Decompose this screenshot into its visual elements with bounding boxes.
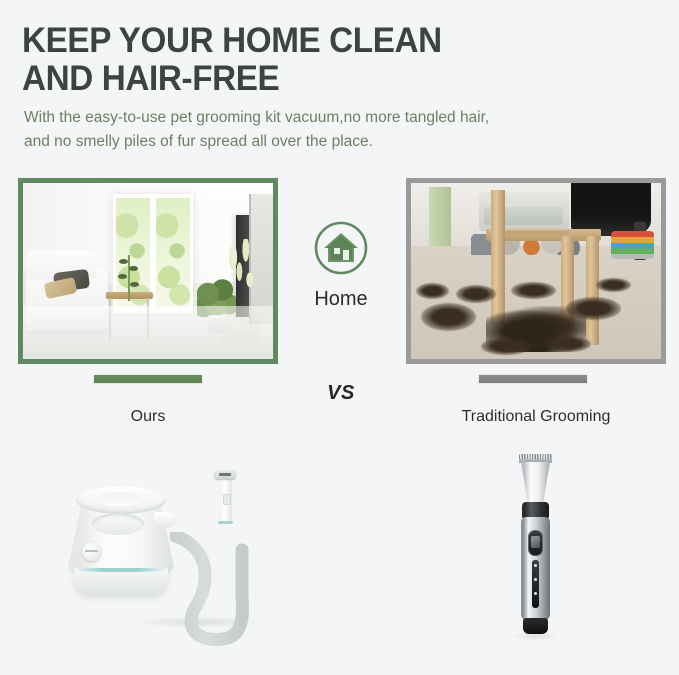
traditional-image-frame xyxy=(406,178,666,364)
comparison-panel-traditional: Traditional Grooming xyxy=(406,178,666,364)
comparison-center-column: Home VS xyxy=(278,178,404,438)
vacuum-hose xyxy=(166,532,250,650)
traditional-caption: Traditional Grooming xyxy=(406,408,666,426)
home-icon xyxy=(313,220,369,276)
vacuum-brush-attachment xyxy=(214,470,236,528)
stem-plant xyxy=(113,255,143,301)
vacuum-dial xyxy=(82,542,101,561)
ours-indicator-bar xyxy=(93,374,203,384)
comparison-panel-ours: Ours xyxy=(18,178,278,364)
vs-label: VS xyxy=(278,382,404,405)
home-label: Home xyxy=(278,288,404,311)
electric-pet-clipper-image xyxy=(505,454,565,654)
stacking-toy xyxy=(611,231,654,259)
products-section xyxy=(0,440,679,675)
ours-caption: Ours xyxy=(18,408,278,426)
traditional-indicator-bar xyxy=(478,374,588,384)
hairy-floor-photo xyxy=(411,183,661,359)
ours-image-frame xyxy=(18,178,278,364)
clean-living-room-photo xyxy=(23,183,273,359)
pet-grooming-vacuum-image xyxy=(62,468,262,658)
comparison-section: Ours Home VS xyxy=(0,178,679,438)
page-title: KEEP YOUR HOME CLEAN AND HAIR-FREE xyxy=(22,22,592,98)
page-subtitle: With the easy-to-use pet grooming kit va… xyxy=(24,106,624,153)
